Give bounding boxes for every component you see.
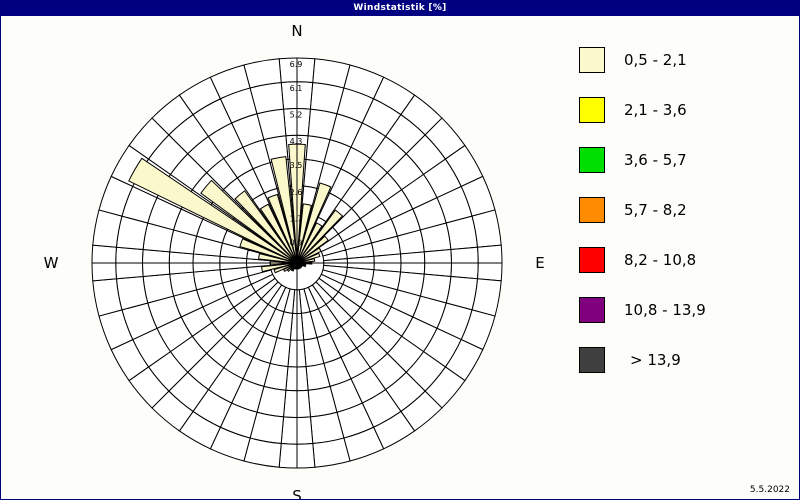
legend-label-2: 3,6 - 5,7	[624, 151, 687, 169]
radial-tick-label: 0.9	[290, 238, 303, 247]
legend-label-3: 5,7 - 8,2	[624, 201, 687, 219]
legend-item[interactable]: 2,1 - 3,6	[579, 85, 794, 135]
legend-item[interactable]: 10,8 - 13,9	[579, 285, 794, 335]
windrose-chart: 0.91.72.63.54.35.26.16.9NSWE	[1, 16, 561, 499]
legend-label-6: > 13,9	[630, 351, 681, 369]
window-title: Windstatistik [%]	[1, 1, 799, 16]
legend-swatch-1	[579, 97, 605, 123]
cardinal-east: E	[535, 254, 544, 272]
radial-tick-label: 6.9	[290, 60, 303, 69]
cardinal-south: S	[292, 487, 302, 499]
legend-item[interactable]: > 13,9	[579, 335, 794, 385]
legend-item[interactable]: 3,6 - 5,7	[579, 135, 794, 185]
legend-swatch-0	[579, 47, 605, 73]
legend-item[interactable]: 5,7 - 8,2	[579, 185, 794, 235]
windrose-window: Windstatistik [%] 0.91.72.63.54.35.26.16…	[0, 0, 800, 500]
legend: 0,5 - 2,1 2,1 - 3,6 3,6 - 5,7 5,7 - 8,2 …	[579, 35, 794, 385]
cardinal-west: W	[44, 254, 59, 272]
legend-label-0: 0,5 - 2,1	[624, 51, 687, 69]
windrose-svg: 0.91.72.63.54.35.26.16.9NSWE	[1, 16, 561, 499]
radial-tick-label: 6.1	[290, 84, 303, 93]
legend-item[interactable]: 8,2 - 10,8	[579, 235, 794, 285]
legend-label-4: 8,2 - 10,8	[624, 251, 696, 269]
radial-tick-label: 4.3	[290, 137, 303, 146]
radial-tick-label: 5.2	[290, 111, 303, 120]
legend-swatch-3	[579, 197, 605, 223]
radial-tick-label: 1.7	[290, 214, 303, 223]
legend-swatch-4	[579, 247, 605, 273]
legend-swatch-2	[579, 147, 605, 173]
radial-tick-label: 2.6	[290, 188, 303, 197]
legend-label-5: 10,8 - 13,9	[624, 301, 706, 319]
legend-swatch-5	[579, 297, 605, 323]
cardinal-north: N	[291, 22, 302, 40]
legend-swatch-6	[579, 347, 605, 373]
legend-label-1: 2,1 - 3,6	[624, 101, 687, 119]
radial-tick-label: 3.5	[290, 161, 303, 170]
legend-item[interactable]: 0,5 - 2,1	[579, 35, 794, 85]
date-stamp: 5.5.2022	[750, 485, 790, 495]
